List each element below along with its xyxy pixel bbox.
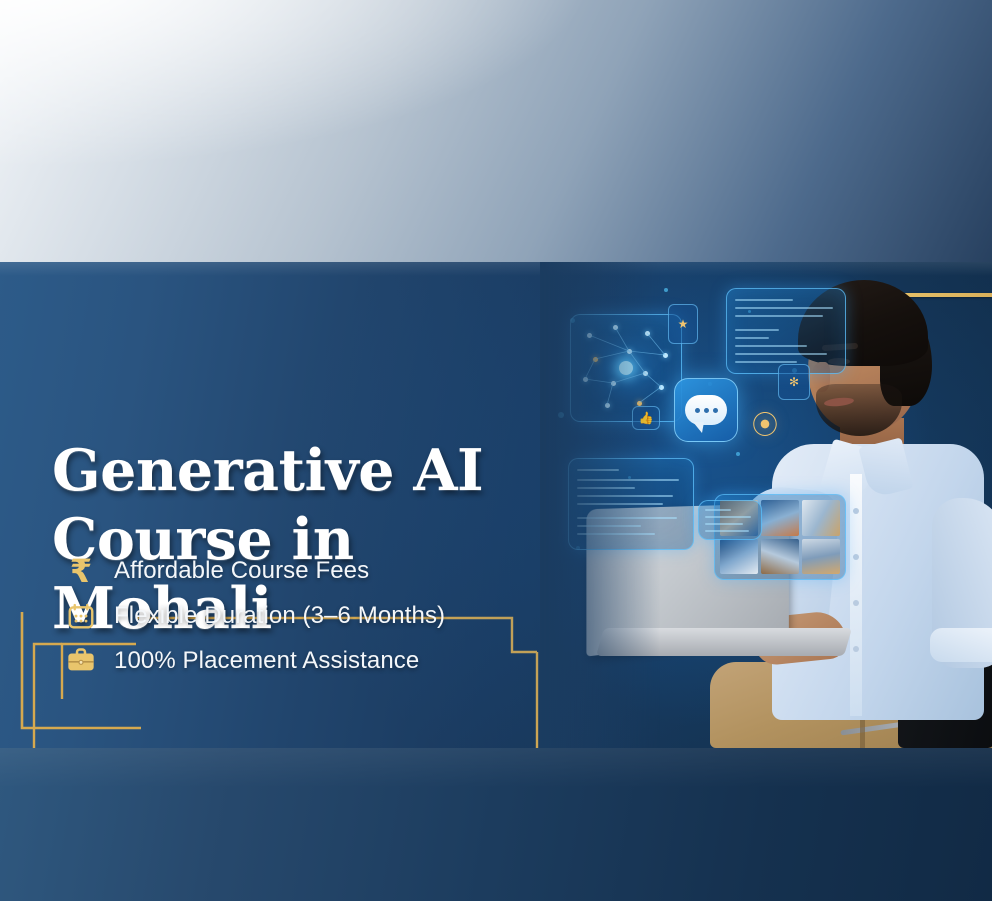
glow-dot — [736, 452, 740, 456]
shirt-button — [853, 600, 859, 606]
chat-bubble-card — [674, 378, 738, 442]
code-text-panel-small — [698, 500, 762, 540]
shirt-button — [853, 508, 859, 514]
image-thumb — [802, 539, 840, 575]
badge-icon: ★ — [668, 304, 698, 344]
image-thumb — [802, 500, 840, 536]
shirt-button — [853, 646, 859, 652]
molecule-icon: ✻ — [778, 364, 810, 400]
headline-line-1: Generative AI — [52, 437, 483, 504]
banner-screenshot: ★ ✻ 👍 ⦿ — [0, 0, 992, 901]
top-backdrop — [0, 0, 992, 270]
glow-dot — [664, 288, 668, 292]
image-thumb — [720, 539, 758, 575]
code-text-panel-top — [726, 288, 846, 374]
gold-corner-bracket — [0, 560, 200, 760]
hero-edge-fade — [540, 262, 660, 748]
shirt-button — [853, 554, 859, 560]
hero-artwork: ★ ✻ 👍 ⦿ — [540, 262, 992, 748]
python-logo-icon: ⦿ — [752, 412, 778, 438]
image-thumb — [761, 500, 799, 536]
shirt-cuff — [930, 628, 992, 662]
chat-bubble-icon — [685, 395, 727, 425]
footer-band — [0, 748, 992, 901]
image-thumb — [761, 539, 799, 575]
